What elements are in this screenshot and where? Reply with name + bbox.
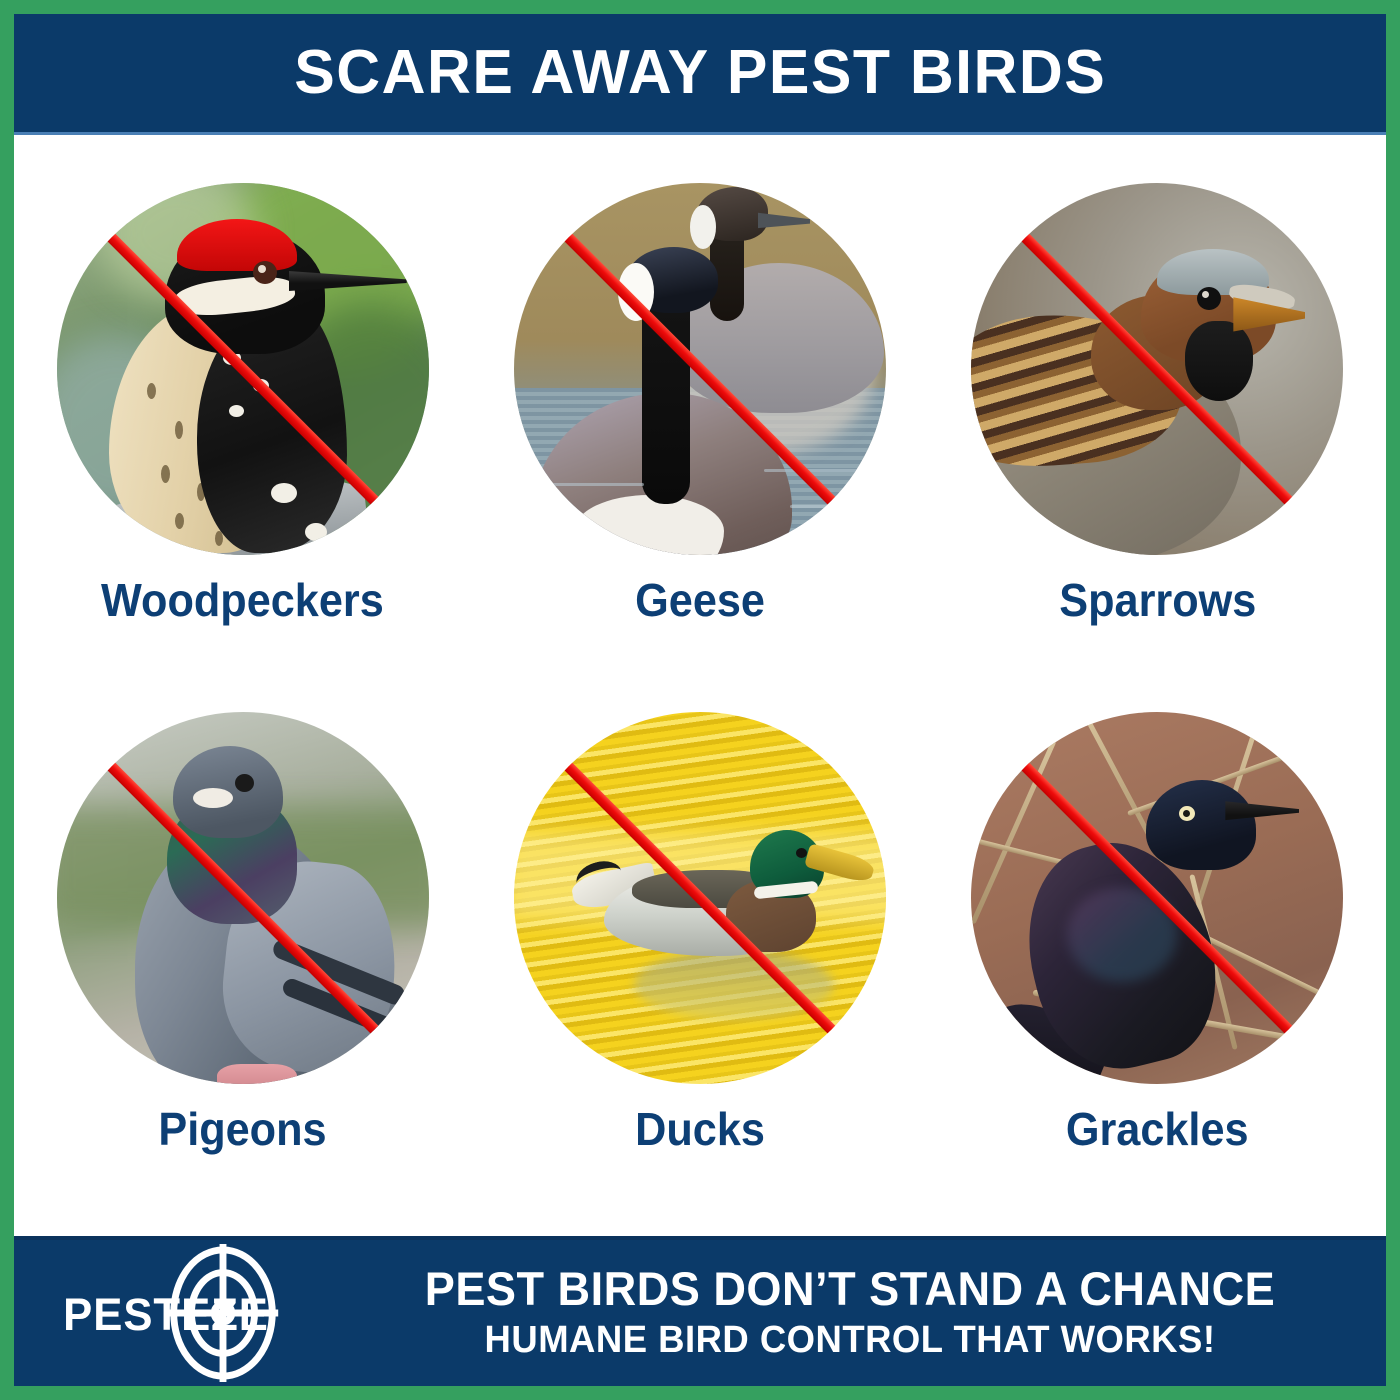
- bird-label: Pigeons: [159, 1106, 327, 1152]
- bird-card-pigeons: Pigeons: [14, 712, 471, 1152]
- infographic-page: SCARE AWAY PEST BIRDS: [0, 0, 1400, 1400]
- sparrow-photo: [971, 183, 1343, 555]
- footer-banner: PESTEZE PEST BIRDS DON’T STAND A CHANCE …: [14, 1236, 1386, 1386]
- footer-subtagline: HUMANE BIRD CONTROL THAT WORKS!: [374, 1320, 1326, 1362]
- bird-card-grackles: Grackles: [929, 712, 1386, 1152]
- bird-card-woodpeckers: Woodpeckers: [14, 183, 471, 623]
- bird-card-ducks: Ducks: [471, 712, 928, 1152]
- goose-photo: [514, 183, 886, 555]
- bird-label: Sparrows: [1059, 577, 1256, 623]
- pigeon-photo: [57, 712, 429, 1084]
- bird-label: Woodpeckers: [101, 577, 384, 623]
- header-banner: SCARE AWAY PEST BIRDS: [14, 14, 1386, 135]
- bird-card-geese: Geese: [471, 183, 928, 623]
- brand-name: PESTEZE: [63, 1292, 269, 1337]
- duck-photo: [514, 712, 886, 1084]
- bird-label: Geese: [635, 577, 765, 623]
- footer-tagline: PEST BIRDS DON’T STAND A CHANCE: [374, 1264, 1326, 1315]
- brand-logo: PESTEZE: [14, 1240, 354, 1386]
- woodpecker-photo: [57, 183, 429, 555]
- page-title: SCARE AWAY PEST BIRDS: [294, 42, 1106, 104]
- footer-taglines: PEST BIRDS DON’T STAND A CHANCE HUMANE B…: [354, 1264, 1386, 1363]
- pest-bird-grid: Woodpeckers: [14, 135, 1386, 1240]
- bird-label: Grackles: [1066, 1106, 1249, 1152]
- bird-card-sparrows: Sparrows: [929, 183, 1386, 623]
- grackle-photo: [971, 712, 1343, 1084]
- bird-label: Ducks: [635, 1106, 765, 1152]
